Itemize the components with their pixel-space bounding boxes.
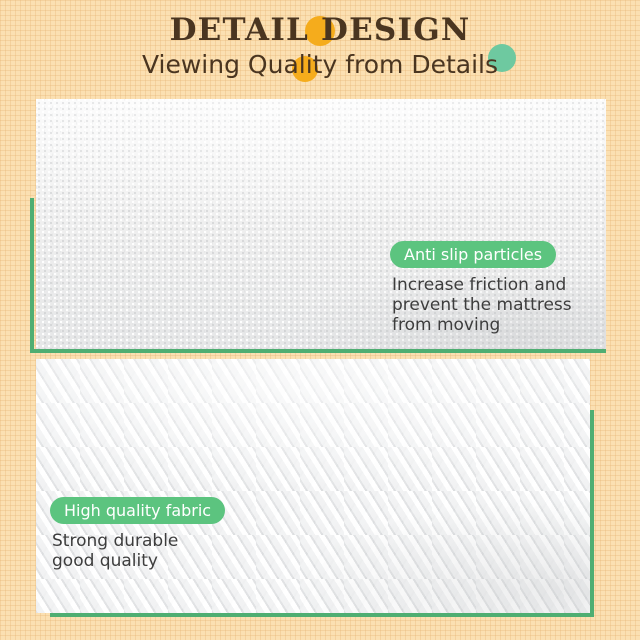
- detail-design-page: DETAIL DESIGN Viewing Quality from Detai…: [0, 0, 640, 640]
- description-anti-slip: Increase friction and prevent the mattre…: [392, 275, 595, 335]
- panel-2-accent-right: [590, 410, 594, 617]
- panel-1-accent-left: [30, 198, 34, 353]
- product-photo-fabric: [36, 359, 590, 613]
- badge-anti-slip-particles: Anti slip particles: [390, 241, 556, 268]
- callout-anti-slip: Anti slip particles Increase friction an…: [390, 241, 595, 335]
- description-high-quality-fabric: Strong durable good quality: [52, 531, 255, 571]
- panel-2-accent-bottom: [50, 613, 594, 617]
- badge-high-quality-fabric: High quality fabric: [50, 497, 225, 524]
- callout-high-quality-fabric: High quality fabric Strong durable good …: [50, 497, 255, 571]
- page-title: DETAIL DESIGN: [0, 13, 640, 47]
- page-subtitle: Viewing Quality from Details: [0, 50, 640, 80]
- page-header: DETAIL DESIGN Viewing Quality from Detai…: [0, 0, 640, 96]
- texture-chevron-quilt: [36, 359, 590, 613]
- panel-1-accent-bottom: [30, 349, 606, 353]
